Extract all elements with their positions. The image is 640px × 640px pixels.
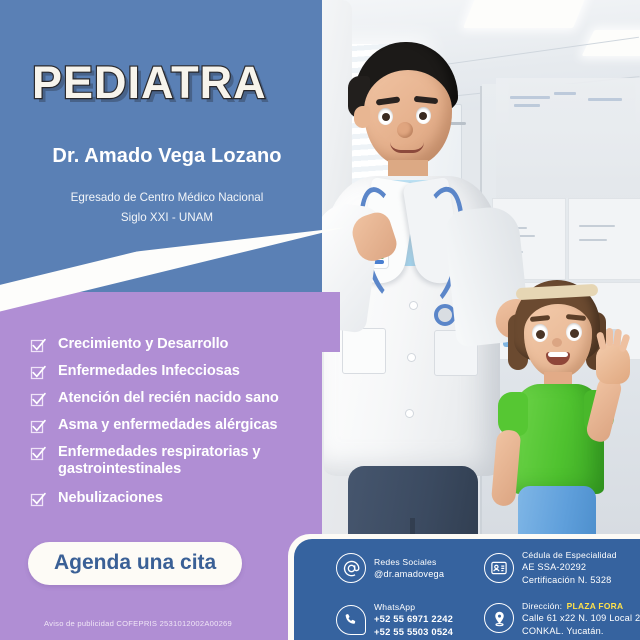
certification-number: Certificación N. 5328: [522, 574, 617, 586]
coat-pocket: [342, 328, 386, 374]
child-pupil: [536, 330, 545, 339]
list-item: Enfermedades Infecciosas: [30, 363, 330, 382]
page-title: PEDIATRA: [32, 57, 300, 109]
checkbox-check-icon: [30, 419, 47, 436]
whatsapp-label: WhatsApp: [374, 601, 453, 613]
contact-card-frame: Redes Sociales @dr.amadovega WhatsApp +5…: [288, 534, 640, 640]
contact-whatsapp[interactable]: WhatsApp +52 55 6971 2242 +52 55 5503 05…: [336, 601, 453, 638]
address-highlight: PLAZA FORA: [567, 601, 624, 611]
doctor-pupil: [382, 113, 390, 121]
child-nose: [552, 338, 562, 347]
at-icon: [336, 553, 366, 583]
coat-button: [408, 354, 415, 361]
service-label: Atención del recién nacido sano: [58, 390, 279, 407]
social-label: Redes Sociales: [374, 556, 444, 568]
child-left-arm: [491, 429, 522, 507]
id-card-icon: [484, 553, 514, 583]
service-label: Nebulizaciones: [58, 490, 163, 507]
service-label: Enfermedades Infecciosas: [58, 363, 240, 380]
contact-address[interactable]: Dirección: PLAZA FORA Calle 61 x22 N. 10…: [484, 599, 640, 637]
child-pupil: [570, 329, 579, 338]
cofepris-disclaimer: Aviso de publicidad COFEPRIS 2531012002A…: [44, 619, 232, 628]
address-line-2: CONKAL. Yucatán.: [522, 625, 640, 637]
social-handle: @dr.amadovega: [374, 568, 444, 580]
address-line-1: Calle 61 x22 N. 109 Local 26.: [522, 612, 640, 624]
checkbox-check-icon: [30, 492, 47, 509]
license-label: Cédula de Especialidad: [522, 549, 617, 561]
list-item: Enfermedades respiratorias y gastrointes…: [30, 444, 330, 478]
services-list: Crecimiento y Desarrollo Enfermedades In…: [30, 336, 330, 517]
license-number: AE SSA-20292: [522, 561, 617, 573]
whatsapp-phone-1: +52 55 6971 2242: [374, 613, 453, 625]
coat-button: [410, 302, 417, 309]
service-label: Crecimiento y Desarrollo: [58, 336, 228, 353]
doctor-credentials: Egresado de Centro Médico Nacional Siglo…: [28, 188, 306, 228]
list-item: Nebulizaciones: [30, 490, 330, 509]
doctor-pupil: [419, 112, 427, 120]
doctor-nose: [397, 122, 413, 138]
checkbox-check-icon: [30, 446, 47, 463]
checkbox-check-icon: [30, 392, 47, 409]
contact-social[interactable]: Redes Sociales @dr.amadovega: [336, 553, 444, 583]
book-appointment-button[interactable]: Agenda una cita: [28, 542, 242, 585]
credentials-line-1: Egresado de Centro Médico Nacional: [28, 188, 306, 208]
address-label: Dirección:: [522, 601, 562, 611]
doctor-ear: [354, 106, 370, 128]
pediatrician-ad-poster: PEDIATRA Dr. Amado Vega Lozano Egresado …: [0, 0, 640, 640]
list-item: Crecimiento y Desarrollo: [30, 336, 330, 355]
phone-icon: [336, 605, 366, 635]
wall-shelf: [568, 198, 640, 280]
credentials-line-2: Siglo XXI - UNAM: [28, 208, 306, 228]
child-sleeve: [498, 392, 528, 436]
list-item: Atención del recién nacido sano: [30, 390, 330, 409]
coat-button: [406, 410, 413, 417]
list-item: Asma y enfermedades alérgicas: [30, 417, 330, 436]
map-pin-icon: [484, 603, 514, 633]
service-label: Asma y enfermedades alérgicas: [58, 417, 277, 434]
doctor-name: Dr. Amado Vega Lozano: [32, 145, 302, 168]
checkbox-check-icon: [30, 365, 47, 382]
checkbox-check-icon: [30, 338, 47, 355]
contact-license: Cédula de Especialidad AE SSA-20292 Cert…: [484, 549, 617, 586]
service-label: Enfermedades respiratorias y gastrointes…: [58, 444, 298, 478]
contact-card: Redes Sociales @dr.amadovega WhatsApp +5…: [294, 539, 640, 640]
child-waving-hand: [596, 344, 630, 384]
whatsapp-phone-2: +52 55 5503 0524: [374, 626, 453, 638]
